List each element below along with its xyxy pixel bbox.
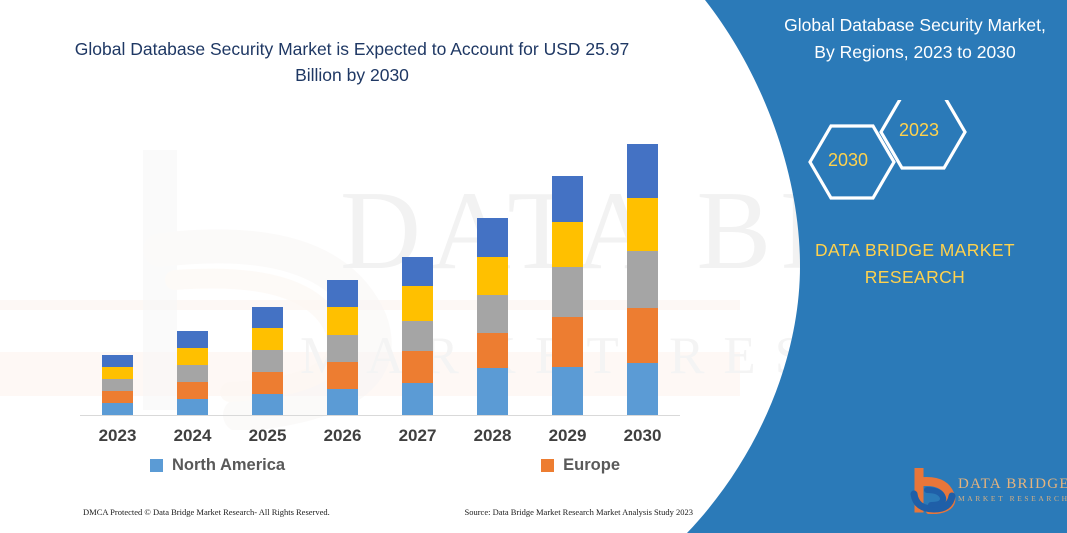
bar-stack	[627, 144, 658, 415]
logo-text-primary: DATA BRIDGE	[958, 476, 1067, 493]
brand-name-line-2: RESEARCH	[765, 264, 1065, 291]
bar-segment-series-5	[102, 355, 133, 367]
hexagon-shapes-icon	[780, 100, 1050, 225]
bar-column-2023	[84, 120, 152, 415]
bar-stack	[177, 331, 208, 415]
bar-segment-series-3	[327, 335, 358, 362]
hexagon-label-2030: 2030	[828, 150, 868, 171]
x-axis-label-2026: 2026	[309, 426, 377, 446]
bar-segment-series-4	[102, 367, 133, 379]
footer-copyright: DMCA Protected © Data Bridge Market Rese…	[83, 507, 330, 517]
company-logo: DATA BRIDGE MARKET RESEARCH	[910, 468, 1065, 516]
bar-segment-north-america	[102, 403, 133, 415]
chart-legend: North AmericaEurope	[150, 456, 620, 475]
x-axis-label-2024: 2024	[159, 426, 227, 446]
bar-column-2030	[609, 120, 677, 415]
bar-segment-north-america	[477, 368, 508, 415]
brand-name: DATA BRIDGE MARKET RESEARCH	[765, 237, 1065, 291]
bar-segment-series-3	[102, 379, 133, 391]
bar-segment-series-4	[327, 307, 358, 335]
bar-column-2025	[234, 120, 302, 415]
bar-segment-europe	[177, 382, 208, 399]
bar-stack	[477, 218, 508, 415]
footer: DMCA Protected © Data Bridge Market Rese…	[83, 507, 693, 517]
bar-segment-europe	[402, 351, 433, 383]
bar-column-2027	[384, 120, 452, 415]
bar-segment-series-3	[477, 295, 508, 333]
bar-stack	[252, 307, 283, 415]
x-axis-label-2028: 2028	[459, 426, 527, 446]
bar-segment-series-4	[477, 257, 508, 295]
bar-segment-north-america	[402, 383, 433, 415]
panel-title-line-1: Global Database Security Market,	[765, 12, 1065, 39]
bar-segment-series-5	[177, 331, 208, 348]
x-axis-labels: 20232024202520262027202820292030	[80, 422, 680, 450]
logo-text-secondary: MARKET RESEARCH	[958, 494, 1067, 503]
bar-series-container	[80, 120, 680, 415]
bar-stack	[402, 257, 433, 415]
x-axis-label-2025: 2025	[234, 426, 302, 446]
legend-swatch-icon	[150, 459, 163, 472]
legend-item-north-america[interactable]: North America	[150, 456, 285, 475]
bar-segment-series-4	[252, 328, 283, 350]
bar-segment-series-5	[627, 144, 658, 198]
hexagon-group: 2030 2023	[780, 100, 1050, 225]
infographic-root: DATA BRIDGE MARKET RESEARCH Global Datab…	[0, 0, 1067, 533]
x-axis-label-2027: 2027	[384, 426, 452, 446]
legend-swatch-icon	[541, 459, 554, 472]
page-title: Global Database Security Market is Expec…	[56, 36, 648, 89]
bar-segment-series-5	[477, 218, 508, 257]
bar-segment-series-5	[252, 307, 283, 328]
bar-segment-europe	[102, 391, 133, 403]
bar-segment-europe	[477, 333, 508, 368]
brand-name-line-1: DATA BRIDGE MARKET	[765, 237, 1065, 264]
panel-title-line-2: By Regions, 2023 to 2030	[765, 39, 1065, 66]
bar-segment-series-5	[552, 176, 583, 222]
bar-stack	[327, 280, 358, 415]
legend-label: Europe	[563, 456, 620, 475]
bar-segment-series-4	[552, 222, 583, 267]
bar-segment-series-3	[552, 267, 583, 317]
bar-segment-series-3	[402, 321, 433, 351]
bar-segment-series-3	[177, 365, 208, 382]
bar-segment-north-america	[177, 399, 208, 415]
chart-plot-area	[80, 120, 680, 416]
bar-segment-europe	[252, 372, 283, 394]
bar-column-2029	[534, 120, 602, 415]
legend-label: North America	[172, 456, 285, 475]
bar-segment-europe	[627, 308, 658, 363]
bar-stack	[552, 176, 583, 415]
panel-content: Global Database Security Market, By Regi…	[800, 0, 1067, 533]
bar-column-2026	[309, 120, 377, 415]
panel-title: Global Database Security Market, By Regi…	[765, 12, 1065, 66]
bar-stack	[102, 355, 133, 415]
bar-column-2028	[459, 120, 527, 415]
bar-segment-series-5	[402, 257, 433, 286]
data-bridge-logo-icon	[910, 468, 958, 514]
bar-segment-europe	[327, 362, 358, 389]
bar-segment-series-4	[402, 286, 433, 321]
x-axis-label-2030: 2030	[609, 426, 677, 446]
bar-segment-series-4	[177, 348, 208, 365]
bar-segment-north-america	[252, 394, 283, 415]
bar-segment-series-5	[327, 280, 358, 307]
bar-segment-north-america	[627, 363, 658, 415]
bar-segment-series-3	[252, 350, 283, 372]
x-axis-line	[80, 415, 680, 416]
legend-item-europe[interactable]: Europe	[541, 456, 620, 475]
hexagon-label-2023: 2023	[899, 120, 939, 141]
bar-segment-series-3	[627, 251, 658, 308]
bar-segment-north-america	[552, 367, 583, 415]
bar-column-2024	[159, 120, 227, 415]
bar-segment-north-america	[327, 389, 358, 415]
footer-source: Source: Data Bridge Market Research Mark…	[464, 507, 693, 517]
bar-segment-europe	[552, 317, 583, 367]
bar-segment-series-4	[627, 198, 658, 251]
x-axis-label-2023: 2023	[84, 426, 152, 446]
x-axis-label-2029: 2029	[534, 426, 602, 446]
